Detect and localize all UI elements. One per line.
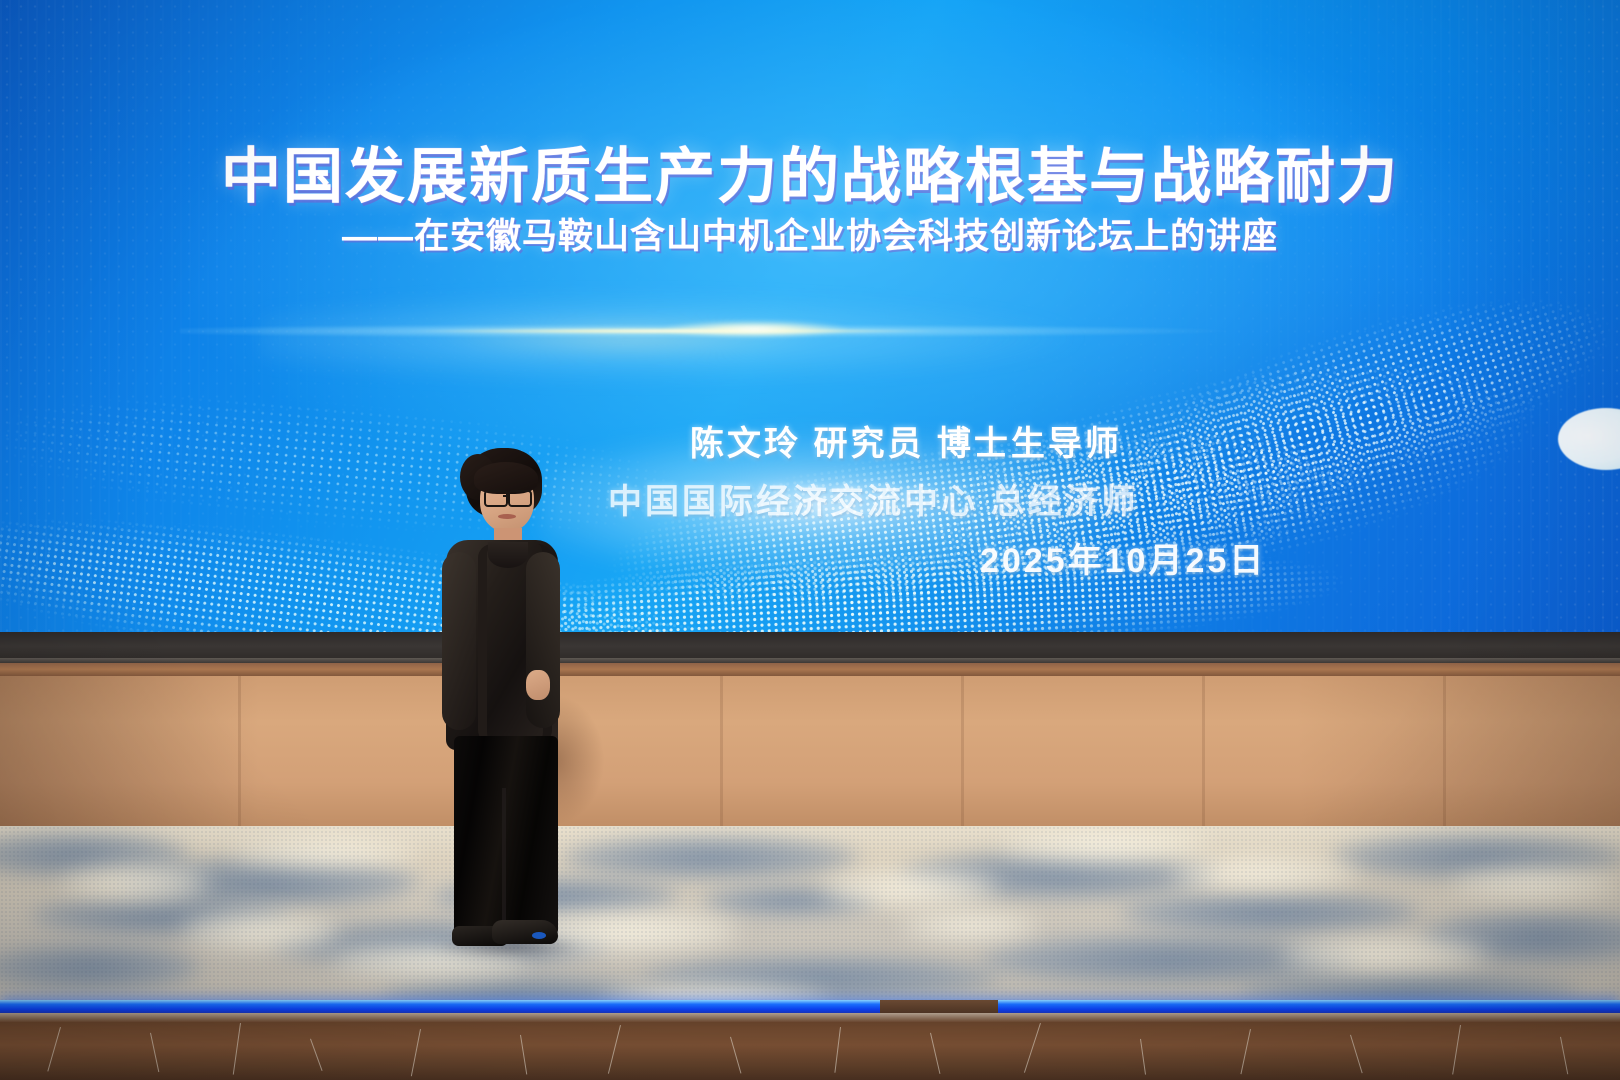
eyeglasses-bridge <box>503 495 509 497</box>
left-arm <box>442 552 476 730</box>
eyeglasses-left-lens <box>484 490 508 507</box>
speaker-affiliation-line: 中国国际经济交流中心 总经济师 <box>608 474 1408 523</box>
slide-date: 2025年10月25日 <box>980 533 1540 582</box>
patterned-carpet <box>0 826 1620 1016</box>
marble-top-highlight <box>0 1013 1620 1022</box>
blazer-collar <box>488 542 528 568</box>
marble-veining <box>0 1013 1620 1080</box>
speaker-name-line: 陈文玲 研究员 博士生导师 <box>690 416 1390 465</box>
wall-trim-molding <box>0 663 1620 677</box>
marble-floor-edge <box>0 1013 1620 1080</box>
conference-stage-photo: 中国发展新质生产力的战略根基与战略耐力 ——在安徽马鞍山含山中机企业协会科技创新… <box>0 0 1620 1080</box>
slide-title: 中国发展新质生产力的战略根基与战略耐力 <box>0 128 1620 215</box>
black-trousers <box>454 736 558 934</box>
trouser-leg-seam <box>502 788 506 934</box>
hand <box>526 670 550 700</box>
mouth <box>498 514 516 519</box>
speaker-figure <box>430 448 580 958</box>
wall-edge-shadow <box>0 676 1620 828</box>
eyeglasses-right-lens <box>508 490 532 507</box>
slide-subtitle: ——在安徽马鞍山含山中机企业协会科技创新论坛上的讲座 <box>0 208 1620 259</box>
right-shoe <box>492 920 558 944</box>
right-arm <box>526 552 560 728</box>
shoe-highlight <box>532 932 546 939</box>
carpet-grain-texture <box>0 826 1620 1016</box>
slide-text-layer: 中国发展新质生产力的战略根基与战略耐力 ——在安徽马鞍山含山中机企业协会科技创新… <box>0 0 1620 636</box>
